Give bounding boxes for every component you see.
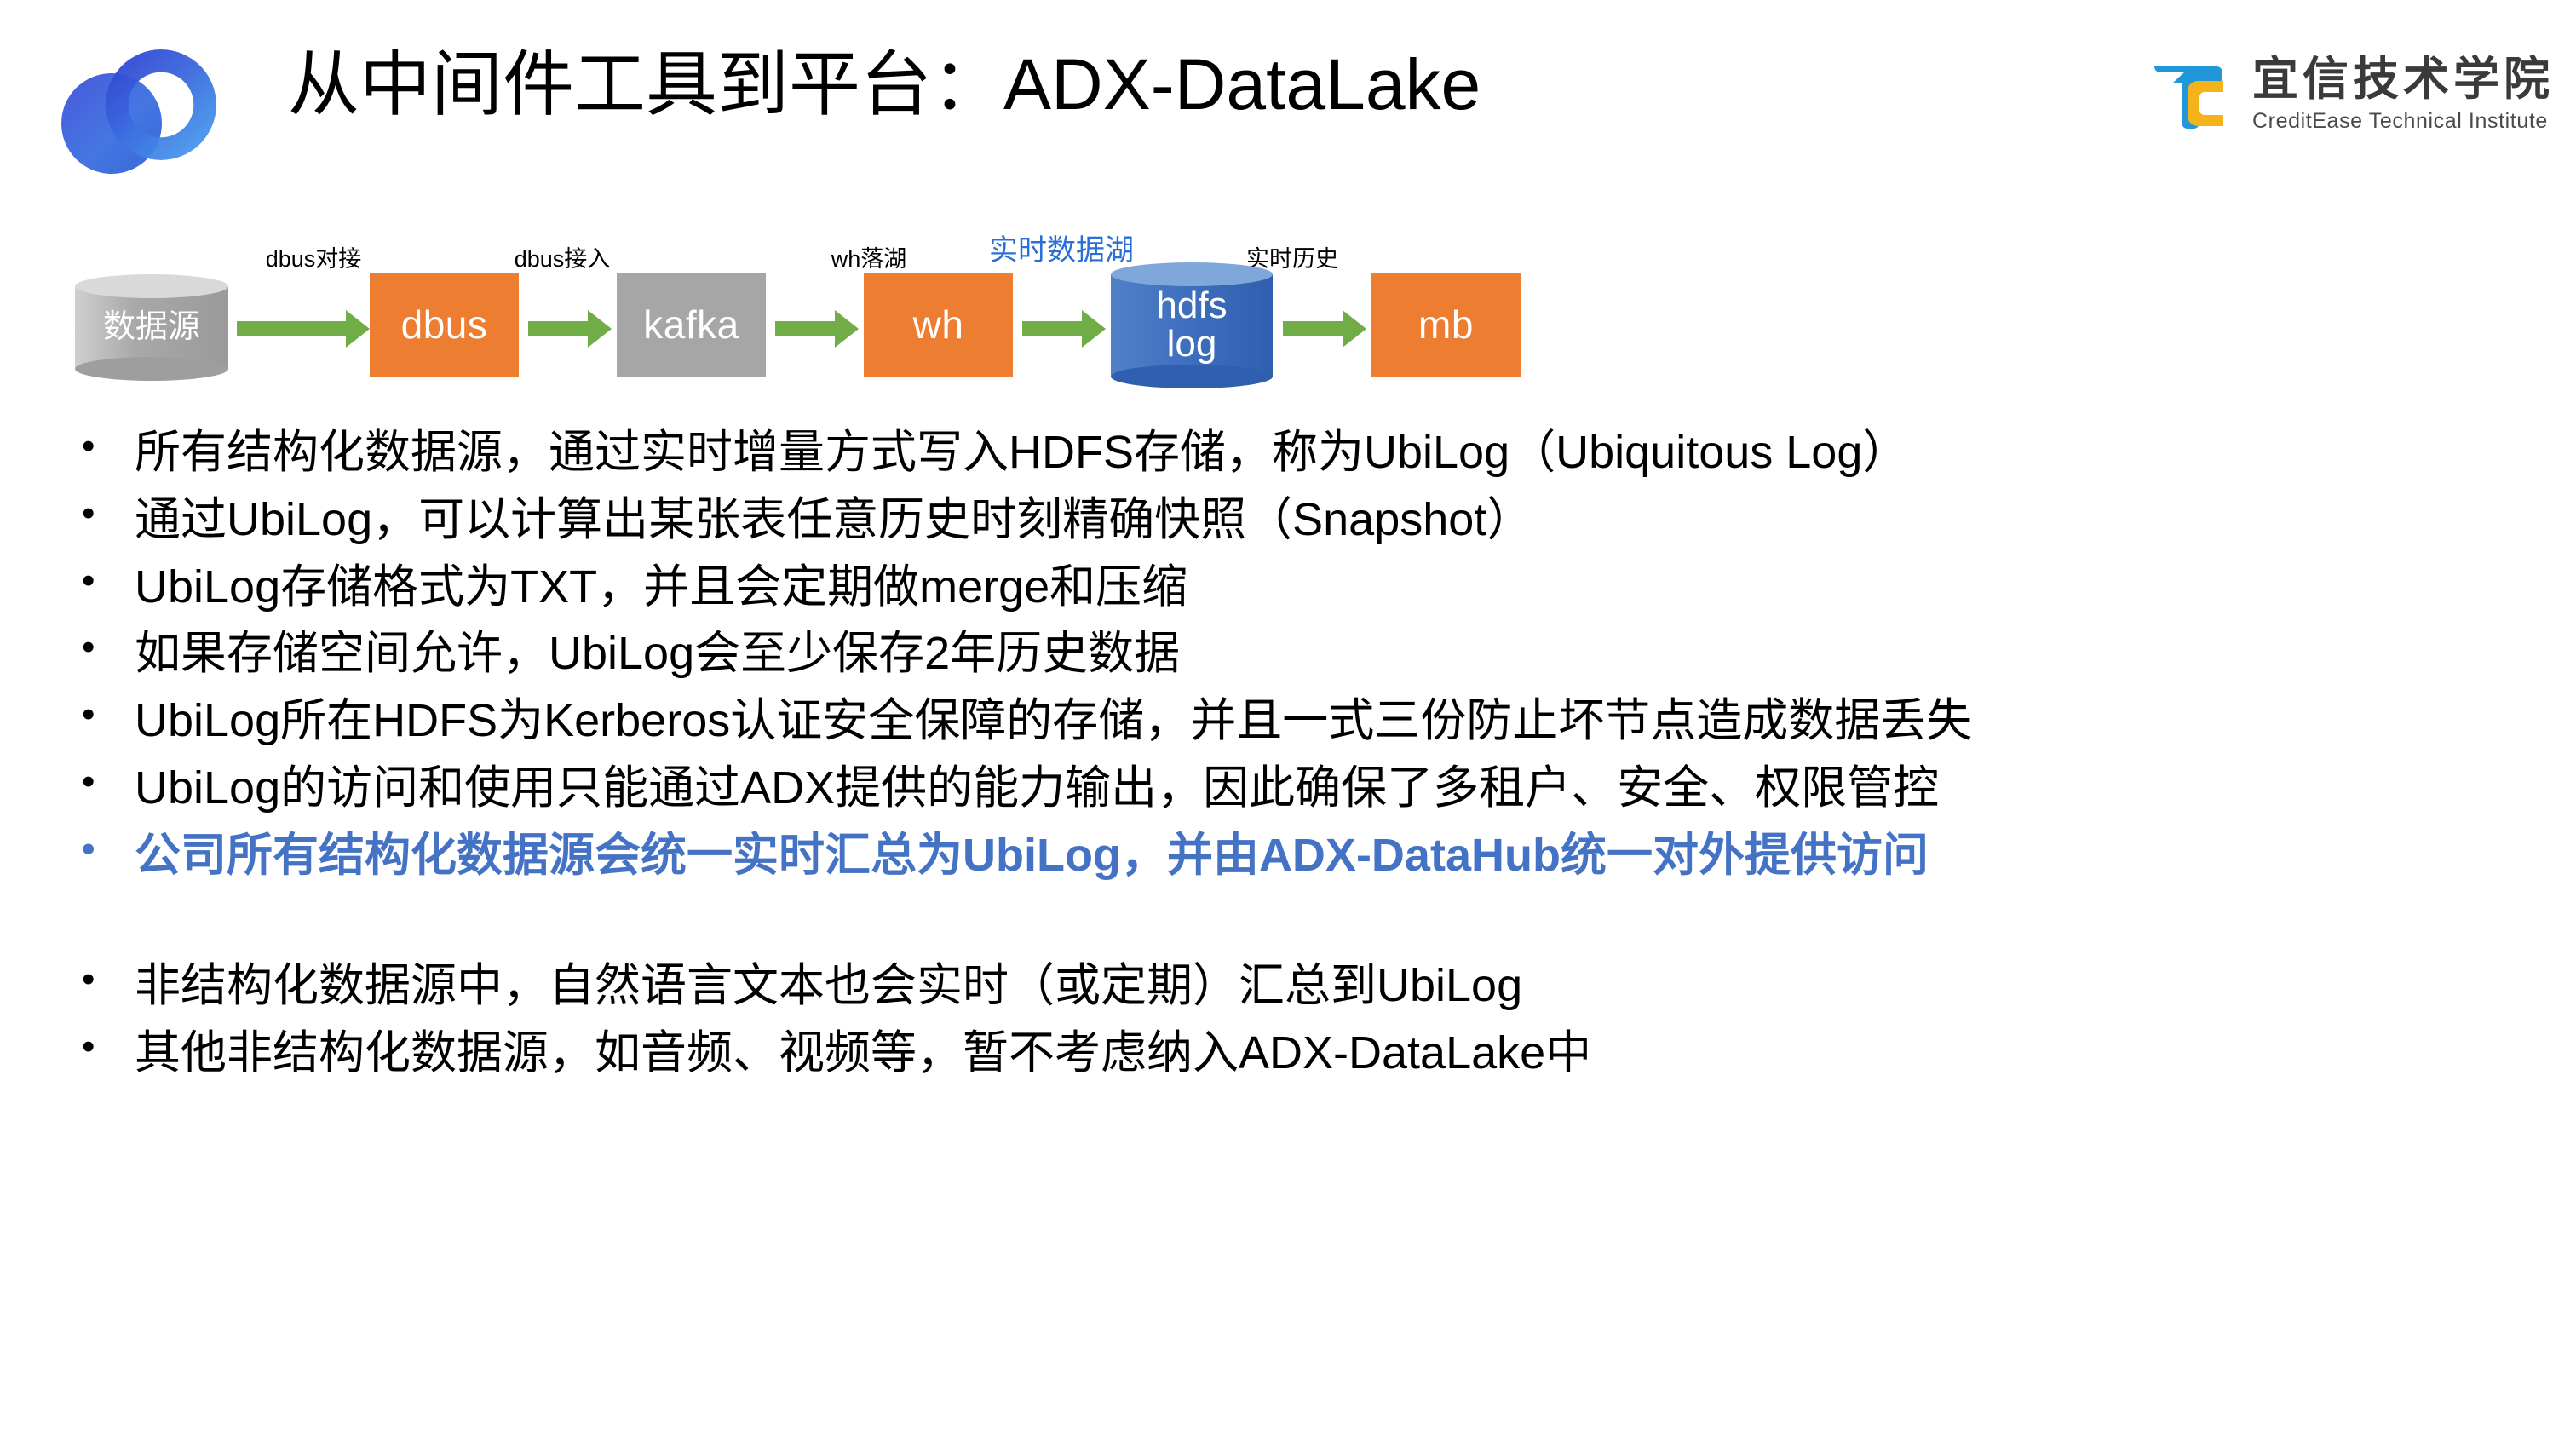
overlapping-circles-logo xyxy=(61,49,249,152)
org-name-cn: 宜信技术学院 xyxy=(2252,56,2554,102)
arrow-dbus-to-kafka xyxy=(528,321,589,336)
org-name-en: CreditEase Technical Institute xyxy=(2252,111,2554,132)
logo-circle-ring xyxy=(106,49,216,160)
list-item: • 非结构化数据源中，自然语言文本也会实时（或定期）汇总到UbiLog xyxy=(82,952,2535,1020)
arrow-source-to-dbus xyxy=(237,321,348,336)
node-label-hdfs-line2: log xyxy=(1156,325,1227,364)
bullet-text: 非结构化数据源中，自然语言文本也会实时（或定期）汇总到UbiLog xyxy=(135,952,2535,1020)
bullet-marker: • xyxy=(82,687,135,742)
list-item: • UbiLog存储格式为TXT，并且会定期做merge和压缩 xyxy=(82,554,2535,621)
list-item: • 其他非结构化数据源，如音频、视频等，暂不考虑纳入ADX-DataLake中 xyxy=(82,1020,2535,1087)
edge-label-dbus-ingest: dbus接入 xyxy=(486,240,639,273)
slide-header: 从中间件工具到平台：ADX-DataLake 宜信技术学院 CreditEase… xyxy=(0,0,2576,196)
org-logo-text: 宜信技术学院 CreditEase Technical Institute xyxy=(2252,56,2554,132)
bullet-text: 公司所有结构化数据源会统一实时汇总为UbiLog，并由ADX-DataHub统一… xyxy=(135,822,2535,889)
org-logo: 宜信技术学院 CreditEase Technical Institute xyxy=(2152,53,2554,135)
bullet-text: 所有结构化数据源，通过实时增量方式写入HDFS存储，称为UbiLog（Ubiqu… xyxy=(135,419,2535,486)
cylinder-top xyxy=(1111,262,1273,286)
bullet-marker: • xyxy=(82,755,135,809)
node-label-hdfs-line1: hdfs xyxy=(1156,287,1227,325)
bullet-text: UbiLog存储格式为TXT，并且会定期做merge和压缩 xyxy=(135,554,2535,621)
arrow-hdfs-to-mb xyxy=(1283,321,1344,336)
cylinder-bottom xyxy=(75,357,228,381)
edge-label-dbus-docking: dbus对接 xyxy=(237,240,390,273)
list-item: • UbiLog的访问和使用只能通过ADX提供的能力输出，因此确保了多租户、安全… xyxy=(82,755,2535,822)
node-dbus: dbus xyxy=(370,273,519,377)
list-item: • UbiLog所在HDFS为Kerberos认证安全保障的存储，并且一式三份防… xyxy=(82,687,2535,755)
list-item: • 如果存储空间允许，UbiLog会至少保存2年历史数据 xyxy=(82,620,2535,687)
edge-label-wh-to-lake: wh落湖 xyxy=(792,240,946,273)
bullet-text: 通过UbiLog，可以计算出某张表任意历史时刻精确快照（Snapshot） xyxy=(135,486,2535,554)
bullet-marker: • xyxy=(82,554,135,608)
bullet-text: UbiLog的访问和使用只能通过ADX提供的能力输出，因此确保了多租户、安全、权… xyxy=(135,755,2535,822)
node-label-data-source: 数据源 xyxy=(103,311,200,344)
cylinder-top xyxy=(75,274,228,298)
arrow-wh-to-hdfs xyxy=(1022,321,1084,336)
bullet-text: 其他非结构化数据源，如音频、视频等，暂不考虑纳入ADX-DataLake中 xyxy=(135,1020,2535,1087)
bullet-marker: • xyxy=(82,620,135,675)
node-kafka: kafka xyxy=(617,273,766,377)
node-label-hdfs-log: hdfs log xyxy=(1156,287,1227,364)
list-item: • 所有结构化数据源，通过实时增量方式写入HDFS存储，称为UbiLog（Ubi… xyxy=(82,419,2535,486)
cylinder-bottom xyxy=(1111,365,1273,388)
list-item: • 通过UbiLog，可以计算出某张表任意历史时刻精确快照（Snapshot） xyxy=(82,486,2535,554)
list-item-highlighted: • 公司所有结构化数据源会统一实时汇总为UbiLog，并由ADX-DataHub… xyxy=(82,822,2535,889)
node-hdfs-log: hdfs log xyxy=(1111,262,1273,388)
pipeline-diagram: dbus对接 dbus接入 wh落湖 实时数据湖 实时历史 数据源 dbus k… xyxy=(0,223,2576,402)
arrow-kafka-to-wh xyxy=(775,321,837,336)
page-title: 从中间件工具到平台：ADX-DataLake xyxy=(288,44,1481,124)
bullet-marker: • xyxy=(82,486,135,541)
bullet-text: UbiLog所在HDFS为Kerberos认证安全保障的存储，并且一式三份防止坏… xyxy=(135,687,2535,755)
bullet-marker: • xyxy=(82,1020,135,1074)
bullet-marker: • xyxy=(82,419,135,474)
node-data-source: 数据源 xyxy=(75,274,228,381)
bullet-marker: • xyxy=(82,822,135,877)
bullet-text: 如果存储空间允许，UbiLog会至少保存2年历史数据 xyxy=(135,620,2535,687)
bullet-marker: • xyxy=(82,952,135,1007)
list-spacer xyxy=(82,889,2535,952)
node-mb: mb xyxy=(1371,273,1521,377)
node-wh: wh xyxy=(864,273,1013,377)
bullet-list: • 所有结构化数据源，通过实时增量方式写入HDFS存储，称为UbiLog（Ubi… xyxy=(82,419,2535,1086)
tc-monogram-icon xyxy=(2152,53,2234,135)
